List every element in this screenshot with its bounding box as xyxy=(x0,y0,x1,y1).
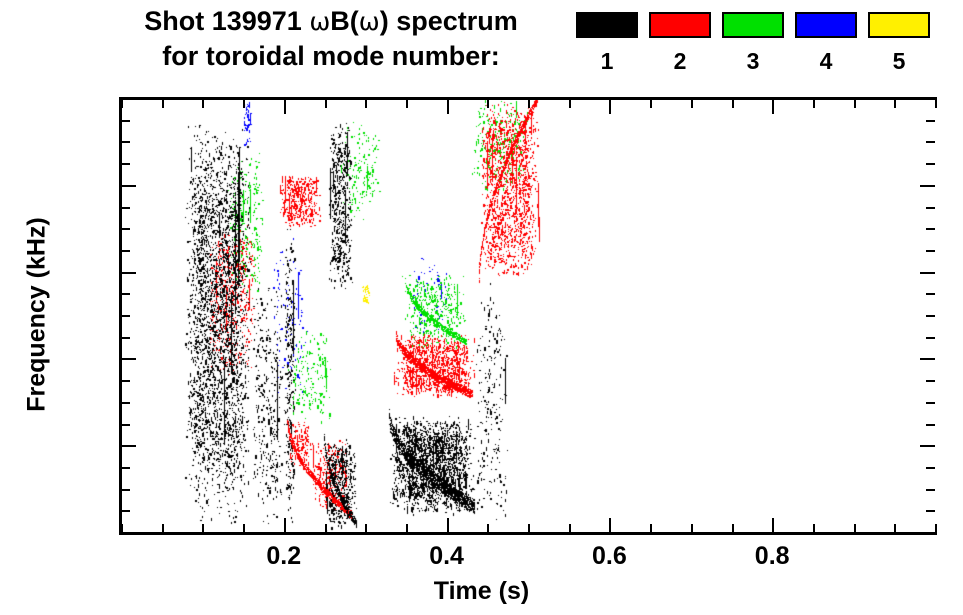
x-tick-0.95 xyxy=(894,524,896,533)
y-tick-80 xyxy=(121,185,136,187)
x-tick-top-0.70 xyxy=(691,99,693,108)
y-tick-35 xyxy=(121,380,130,382)
x-tick-0.20 xyxy=(284,518,286,533)
y-tick-90 xyxy=(121,141,130,143)
x-tick-0.55 xyxy=(569,524,571,533)
chart-title-shot-text: Shot 139971 xyxy=(144,6,309,36)
y-tick-85 xyxy=(121,163,130,165)
spectrogram-canvas xyxy=(121,99,935,533)
legend-swatch-mode-1 xyxy=(576,12,638,38)
x-tick-0.05 xyxy=(162,524,164,533)
x-tick-top-0.15 xyxy=(243,99,245,108)
x-tick-top-0.95 xyxy=(894,99,896,108)
x-tick-label-0.4: 0.4 xyxy=(407,543,487,569)
y-tick-45 xyxy=(121,337,130,339)
legend-swatch-mode-4 xyxy=(795,12,857,38)
x-tick-top-0.65 xyxy=(650,99,652,108)
x-tick-label-0.6: 0.6 xyxy=(569,543,649,569)
x-tick-1.00 xyxy=(935,524,937,533)
y-tick-right-65 xyxy=(926,250,935,252)
y-tick-5 xyxy=(121,510,130,512)
legend-label-mode-4: 4 xyxy=(820,49,833,73)
y-tick-25 xyxy=(121,424,130,426)
y-tick-right-35 xyxy=(926,380,935,382)
x-tick-top-0.40 xyxy=(447,99,449,114)
legend-item-mode-5[interactable]: 5 xyxy=(867,12,931,73)
y-tick-right-40 xyxy=(920,358,935,360)
x-tick-top-0.55 xyxy=(569,99,571,108)
y-tick-right-30 xyxy=(926,402,935,404)
omega-symbol-2: ω xyxy=(359,7,380,36)
x-tick-top-0.60 xyxy=(609,99,611,114)
x-tick-top-0.05 xyxy=(162,99,164,108)
y-tick-50 xyxy=(121,315,130,317)
x-tick-top-0.75 xyxy=(732,99,734,108)
x-tick-0.80 xyxy=(772,518,774,533)
legend-item-mode-1[interactable]: 1 xyxy=(575,12,639,73)
x-tick-0.45 xyxy=(487,524,489,533)
omega-symbol-1: ω xyxy=(309,7,330,36)
x-tick-0.50 xyxy=(528,524,530,533)
figure-root: Shot 139971 ωB(ω) spectrum for toroidal … xyxy=(0,0,963,615)
legend: 1 2 3 4 5 xyxy=(575,12,931,73)
legend-item-mode-4[interactable]: 4 xyxy=(794,12,858,73)
y-tick-right-25 xyxy=(926,424,935,426)
x-tick-top-0.30 xyxy=(365,99,367,108)
chart-title-line-1: Shot 139971 ωB(ω) spectrum xyxy=(96,4,566,39)
x-tick-top-0.20 xyxy=(284,99,286,114)
x-tick-top-0.50 xyxy=(528,99,530,108)
x-tick-0.30 xyxy=(365,524,367,533)
x-tick-0.75 xyxy=(732,524,734,533)
x-tick-top-1.00 xyxy=(935,99,937,108)
y-tick-right-5 xyxy=(926,510,935,512)
legend-item-mode-3[interactable]: 3 xyxy=(721,12,785,73)
y-tick-right-60 xyxy=(920,272,935,274)
legend-label-mode-3: 3 xyxy=(747,49,760,73)
x-tick-top-0.80 xyxy=(772,99,774,114)
legend-item-mode-2[interactable]: 2 xyxy=(648,12,712,73)
y-tick-right-75 xyxy=(926,207,935,209)
x-tick-top-0.25 xyxy=(325,99,327,108)
y-tick-60 xyxy=(121,272,136,274)
legend-label-mode-5: 5 xyxy=(893,49,906,73)
x-tick-top-0.35 xyxy=(406,99,408,108)
y-tick-right-70 xyxy=(926,228,935,230)
y-tick-right-100 xyxy=(920,98,935,100)
y-tick-40 xyxy=(121,358,136,360)
y-tick-right-85 xyxy=(926,163,935,165)
x-tick-top-0.45 xyxy=(487,99,489,108)
x-axis-title: Time (s) xyxy=(0,577,963,606)
legend-label-mode-2: 2 xyxy=(674,49,687,73)
x-tick-0.10 xyxy=(202,524,204,533)
x-tick-0.60 xyxy=(609,518,611,533)
y-tick-10 xyxy=(121,489,130,491)
legend-swatch-mode-3 xyxy=(722,12,784,38)
x-tick-0.70 xyxy=(691,524,693,533)
y-tick-0 xyxy=(121,532,136,534)
x-tick-0.85 xyxy=(813,524,815,533)
legend-swatch-mode-2 xyxy=(649,12,711,38)
y-tick-right-0 xyxy=(920,532,935,534)
y-tick-right-95 xyxy=(926,120,935,122)
chart-title: Shot 139971 ωB(ω) spectrum for toroidal … xyxy=(96,4,566,73)
legend-label-mode-1: 1 xyxy=(601,49,614,73)
x-tick-0.25 xyxy=(325,524,327,533)
x-tick-0.35 xyxy=(406,524,408,533)
y-tick-right-15 xyxy=(926,467,935,469)
y-tick-65 xyxy=(121,250,130,252)
legend-swatch-mode-5 xyxy=(868,12,930,38)
y-tick-right-80 xyxy=(920,185,935,187)
y-tick-right-10 xyxy=(926,489,935,491)
y-tick-20 xyxy=(121,445,136,447)
y-tick-30 xyxy=(121,402,130,404)
y-tick-right-55 xyxy=(926,293,935,295)
chart-title-b-text: B( xyxy=(330,6,359,36)
x-tick-label-0.2: 0.2 xyxy=(244,543,324,569)
y-tick-right-50 xyxy=(926,315,935,317)
y-tick-75 xyxy=(121,207,130,209)
y-tick-right-45 xyxy=(926,337,935,339)
y-axis-title: Frequency (kHz) xyxy=(23,190,52,440)
x-tick-label-0.8: 0.8 xyxy=(732,543,812,569)
y-tick-right-90 xyxy=(926,141,935,143)
y-tick-right-20 xyxy=(920,445,935,447)
chart-title-line-2: for toroidal mode number: xyxy=(96,39,566,73)
y-tick-15 xyxy=(121,467,130,469)
y-tick-100 xyxy=(121,98,136,100)
x-tick-top-0.90 xyxy=(854,99,856,108)
x-tick-top-0.00 xyxy=(121,99,123,108)
x-tick-0.15 xyxy=(243,524,245,533)
x-tick-0.90 xyxy=(854,524,856,533)
x-tick-top-0.85 xyxy=(813,99,815,108)
x-tick-0.65 xyxy=(650,524,652,533)
y-tick-95 xyxy=(121,120,130,122)
y-tick-70 xyxy=(121,228,130,230)
x-tick-0.40 xyxy=(447,518,449,533)
chart-title-spectrum-text: ) spectrum xyxy=(380,6,518,36)
x-tick-top-0.10 xyxy=(202,99,204,108)
y-tick-55 xyxy=(121,293,130,295)
plot-area[interactable] xyxy=(121,99,935,533)
